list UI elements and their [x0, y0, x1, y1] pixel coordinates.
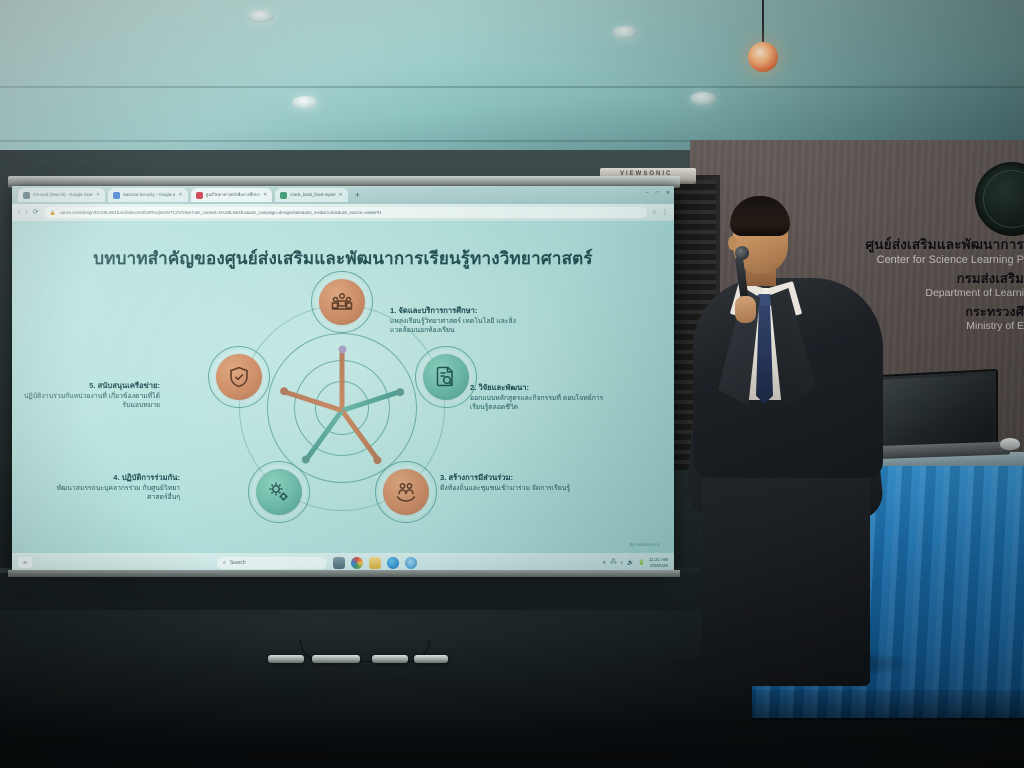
- table-skirt-hem: [752, 690, 1024, 720]
- callout-5-body: ปฏิบัติงานร่วมกับหน่วยงานที่ เกี่ยวข้องต…: [20, 392, 160, 410]
- edge-icon[interactable]: [387, 557, 399, 569]
- bookmark-star-icon[interactable]: ☆: [652, 209, 657, 216]
- taskbar-clock[interactable]: 11:21 AM 2/9/2026: [649, 557, 668, 569]
- taskbar-left: ⊞: [18, 557, 32, 568]
- callout-1: 1. จัดและบริการการศึกษา: แหล่งเรียนรู้วิ…: [390, 306, 530, 335]
- address-bar-url: canva.com/design/DAG9LNK4fLs/d/nskvcKwfC…: [60, 210, 382, 216]
- tab-favicon-sheet-icon: [280, 192, 287, 199]
- back-icon[interactable]: ‹: [18, 209, 20, 217]
- new-tab-button[interactable]: +: [351, 190, 364, 200]
- tab-close-icon[interactable]: ✕: [263, 192, 267, 198]
- callout-3-body: ดึงท้องถิ่นและชุมชนเข้ามาร่วม จัดการเรีย…: [440, 484, 580, 493]
- document-search-icon: [434, 365, 458, 389]
- tray-expand-icon[interactable]: ∧: [602, 560, 606, 566]
- browser-tab[interactable]: CS-card (Search) - Google Sear ✕: [18, 188, 105, 202]
- floor-light-strip: [312, 655, 360, 663]
- chrome-icon[interactable]: [351, 557, 363, 569]
- tab-close-icon[interactable]: ✕: [96, 192, 100, 198]
- callout-5-heading: 5. สนับสนุนเครือข่าย:: [20, 381, 160, 391]
- browser-tab[interactable]: crank_bank_fixed-report ✕: [275, 188, 347, 202]
- clock-time: 11:21 AM: [649, 557, 668, 563]
- canva-slide: บทบาทสำคัญของศูนย์ส่งเสริมและพัฒนาการเรี…: [12, 221, 674, 553]
- tab-title: crank_bank_fixed-report: [290, 192, 335, 198]
- browser-window: CS-card (Search) - Google Sear ✕ Nationa…: [12, 186, 674, 572]
- tab-close-icon[interactable]: ✕: [178, 192, 182, 198]
- gears-icon: [267, 480, 291, 504]
- reload-icon[interactable]: ⟳: [33, 209, 39, 217]
- maximize-button[interactable]: □: [656, 190, 659, 196]
- tab-title: CS-card (Search) - Google Sear: [33, 192, 93, 198]
- explorer-icon[interactable]: [369, 557, 381, 569]
- callout-5: 5. สนับสนุนเครือข่าย: ปฏิบัติงานร่วมกับห…: [20, 381, 160, 410]
- presenter: [688, 196, 888, 676]
- tab-title: National Security - Google a: [123, 192, 175, 198]
- tab-favicon-account-icon: [23, 192, 30, 199]
- computer-mouse: [1000, 438, 1020, 450]
- callout-1-heading: 1. จัดและบริการการศึกษา:: [390, 306, 530, 316]
- minimize-button[interactable]: −: [646, 190, 649, 196]
- screen-bottom-rail: [8, 570, 680, 577]
- pendant-lamp-icon: [748, 42, 778, 72]
- tab-title: ศูนย์วิทยาศาสตร์เพื่อการศึกษา: [206, 192, 261, 198]
- wifi-icon[interactable]: ♪: [620, 560, 623, 566]
- search-icon: ⌕: [223, 560, 226, 566]
- browser-omnibar: ‹ › ⟳ 🔒 canva.com/design/DAG9LNK4fLs/d/n…: [12, 204, 674, 221]
- shield-check-icon: [227, 365, 251, 389]
- presenter-hand: [735, 296, 756, 323]
- tab-close-icon[interactable]: ✕: [339, 192, 343, 198]
- clock-date: 2/9/2026: [649, 563, 668, 569]
- browser-tab-active[interactable]: ศูนย์วิทยาศาสตร์เพื่อการศึกษา ✕: [191, 188, 273, 202]
- forward-icon[interactable]: ›: [25, 209, 27, 217]
- window-controls: − □ ✕: [646, 190, 670, 196]
- address-bar[interactable]: 🔒 canva.com/design/DAG9LNK4fLs/d/nskvcKw…: [44, 207, 647, 218]
- callout-2: 2. วิจัยและพัฒนา: ออกแบบหลักสูตรและกิจกร…: [470, 383, 610, 412]
- callout-4-body: พัฒนาสมรรถนะบุคลากรร่วม กับศูนย์วิทยาศาส…: [40, 484, 180, 502]
- taskbar-center: ⌕ Search: [217, 557, 417, 569]
- diagram-node-education-group-icon[interactable]: [319, 279, 365, 325]
- callout-2-body: ออกแบบหลักสูตรและกิจกรรมที่ ตอบโจทย์การเ…: [470, 394, 610, 412]
- network-icon[interactable]: 🖧: [610, 558, 616, 567]
- diagram-node-shield-check-icon[interactable]: [216, 354, 262, 400]
- presentation-room-photo: ศูนย์ส่งเสริมและพัฒนาการ Center for Scie…: [0, 0, 1024, 768]
- callout-2-heading: 2. วิจัยและพัฒนา:: [470, 383, 610, 393]
- participation-hands-icon: [394, 480, 418, 504]
- start-icon: ⊞: [23, 560, 26, 565]
- laptop-screen: [876, 369, 998, 453]
- diagram-node-gears-icon[interactable]: [256, 469, 302, 515]
- projection-screen: CS-card (Search) - Google Sear ✕ Nationa…: [12, 186, 674, 572]
- taskbar-tray: ∧ 🖧 ♪ 🔊 🔋 11:21 AM 2/9/2026: [602, 557, 668, 569]
- presenter-hair: [730, 196, 790, 236]
- browser-tab[interactable]: National Security - Google a ✕: [108, 188, 188, 202]
- diagram-node-document-search-icon[interactable]: [423, 354, 469, 400]
- tab-favicon-video-icon: [196, 192, 203, 199]
- ceiling-shading: [0, 0, 1024, 160]
- battery-icon[interactable]: 🔋: [638, 560, 645, 566]
- start-button[interactable]: ⊞: [18, 557, 32, 568]
- laptop-display: [881, 374, 993, 448]
- taskview-icon[interactable]: [333, 557, 345, 569]
- slide-title: บทบาทสำคัญของศูนย์ส่งเสริมและพัฒนาการเรี…: [12, 245, 674, 272]
- diagram-node-participation-hands-icon[interactable]: [383, 469, 429, 515]
- settings-icon[interactable]: [405, 557, 417, 569]
- slide-credit: By Natsakorn.V: [629, 542, 660, 547]
- callout-3: 3. สร้างการมีส่วนร่วม: ดึงท้องถิ่นและชุม…: [440, 473, 580, 493]
- floor-light-strip: [414, 655, 448, 663]
- diagram-spoke-1: [340, 349, 345, 411]
- callout-1-body: แหล่งเรียนรู้วิทยาศาสตร์ เทคโนโลยี และสิ…: [390, 317, 530, 335]
- education-group-icon: [330, 290, 354, 314]
- volume-icon[interactable]: 🔊: [627, 560, 634, 566]
- callout-4: 4. ปฏิบัติการร่วมกัน: พัฒนาสมรรถนะบุคลาก…: [40, 473, 180, 502]
- floor-light-strip: [268, 655, 304, 663]
- browser-menu-icon[interactable]: ⋮: [662, 209, 668, 216]
- taskbar-search-box[interactable]: ⌕ Search: [217, 557, 327, 569]
- lock-icon: 🔒: [50, 210, 56, 216]
- close-button[interactable]: ✕: [666, 190, 670, 196]
- browser-tabstrip: CS-card (Search) - Google Sear ✕ Nationa…: [12, 186, 674, 204]
- callout-4-heading: 4. ปฏิบัติการร่วมกัน:: [40, 473, 180, 483]
- callout-3-heading: 3. สร้างการมีส่วนร่วม:: [440, 473, 580, 483]
- tab-favicon-doc-icon: [113, 192, 120, 199]
- search-placeholder: Search: [230, 560, 246, 566]
- pendant-rod: [762, 0, 764, 45]
- floor-light-strip: [372, 655, 408, 663]
